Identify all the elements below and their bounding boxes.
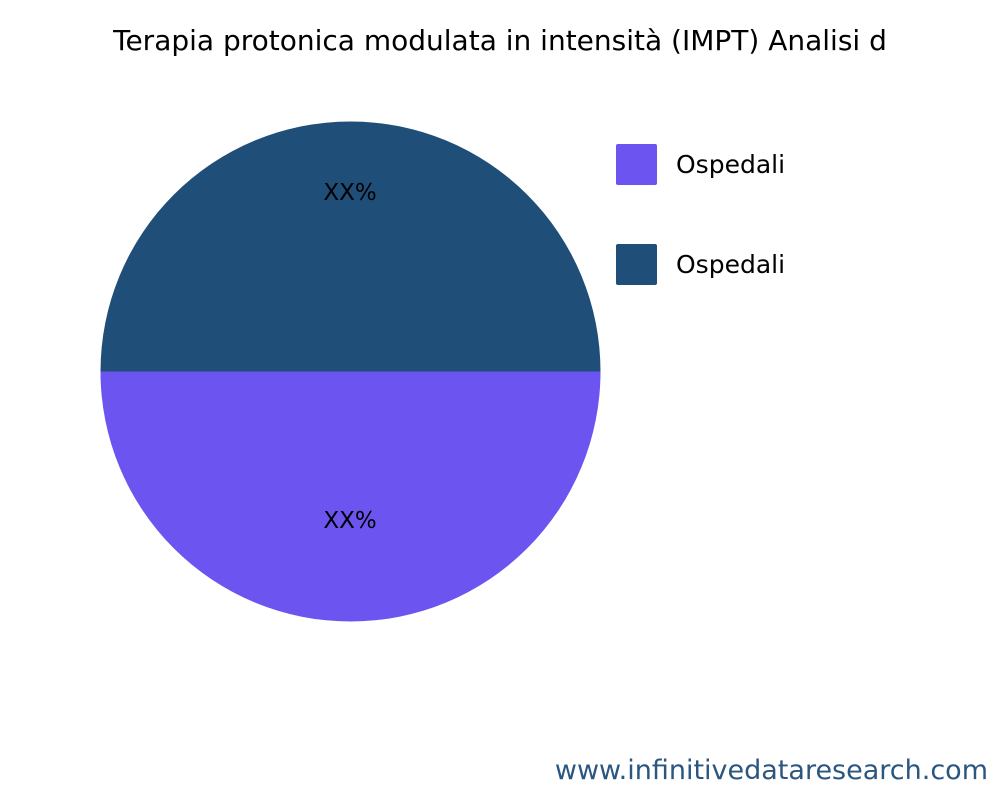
legend-swatch-icon: [616, 244, 657, 285]
legend-item-label: Ospedali: [676, 150, 785, 179]
pie-chart: XX% XX%: [100, 114, 601, 629]
watermark-url: www.infinitivedataresearch.com: [555, 755, 988, 786]
chart-page: Terapia protonica modulata in intensità …: [0, 0, 1000, 800]
pie-slice-ospedali-1[interactable]: [101, 372, 601, 622]
legend-swatch-icon: [616, 144, 657, 185]
chart-title: Terapia protonica modulata in intensità …: [0, 24, 1000, 57]
pie-slice-label-1: XX%: [323, 508, 376, 534]
legend-item-ospedali-2[interactable]: Ospedali: [616, 214, 946, 314]
pie-slice-ospedali-2[interactable]: [101, 122, 601, 372]
chart-legend: Ospedali Ospedali: [616, 114, 946, 314]
legend-item-label: Ospedali: [676, 250, 785, 279]
legend-item-ospedali-1[interactable]: Ospedali: [616, 114, 946, 214]
pie-slice-label-2: XX%: [323, 180, 376, 206]
